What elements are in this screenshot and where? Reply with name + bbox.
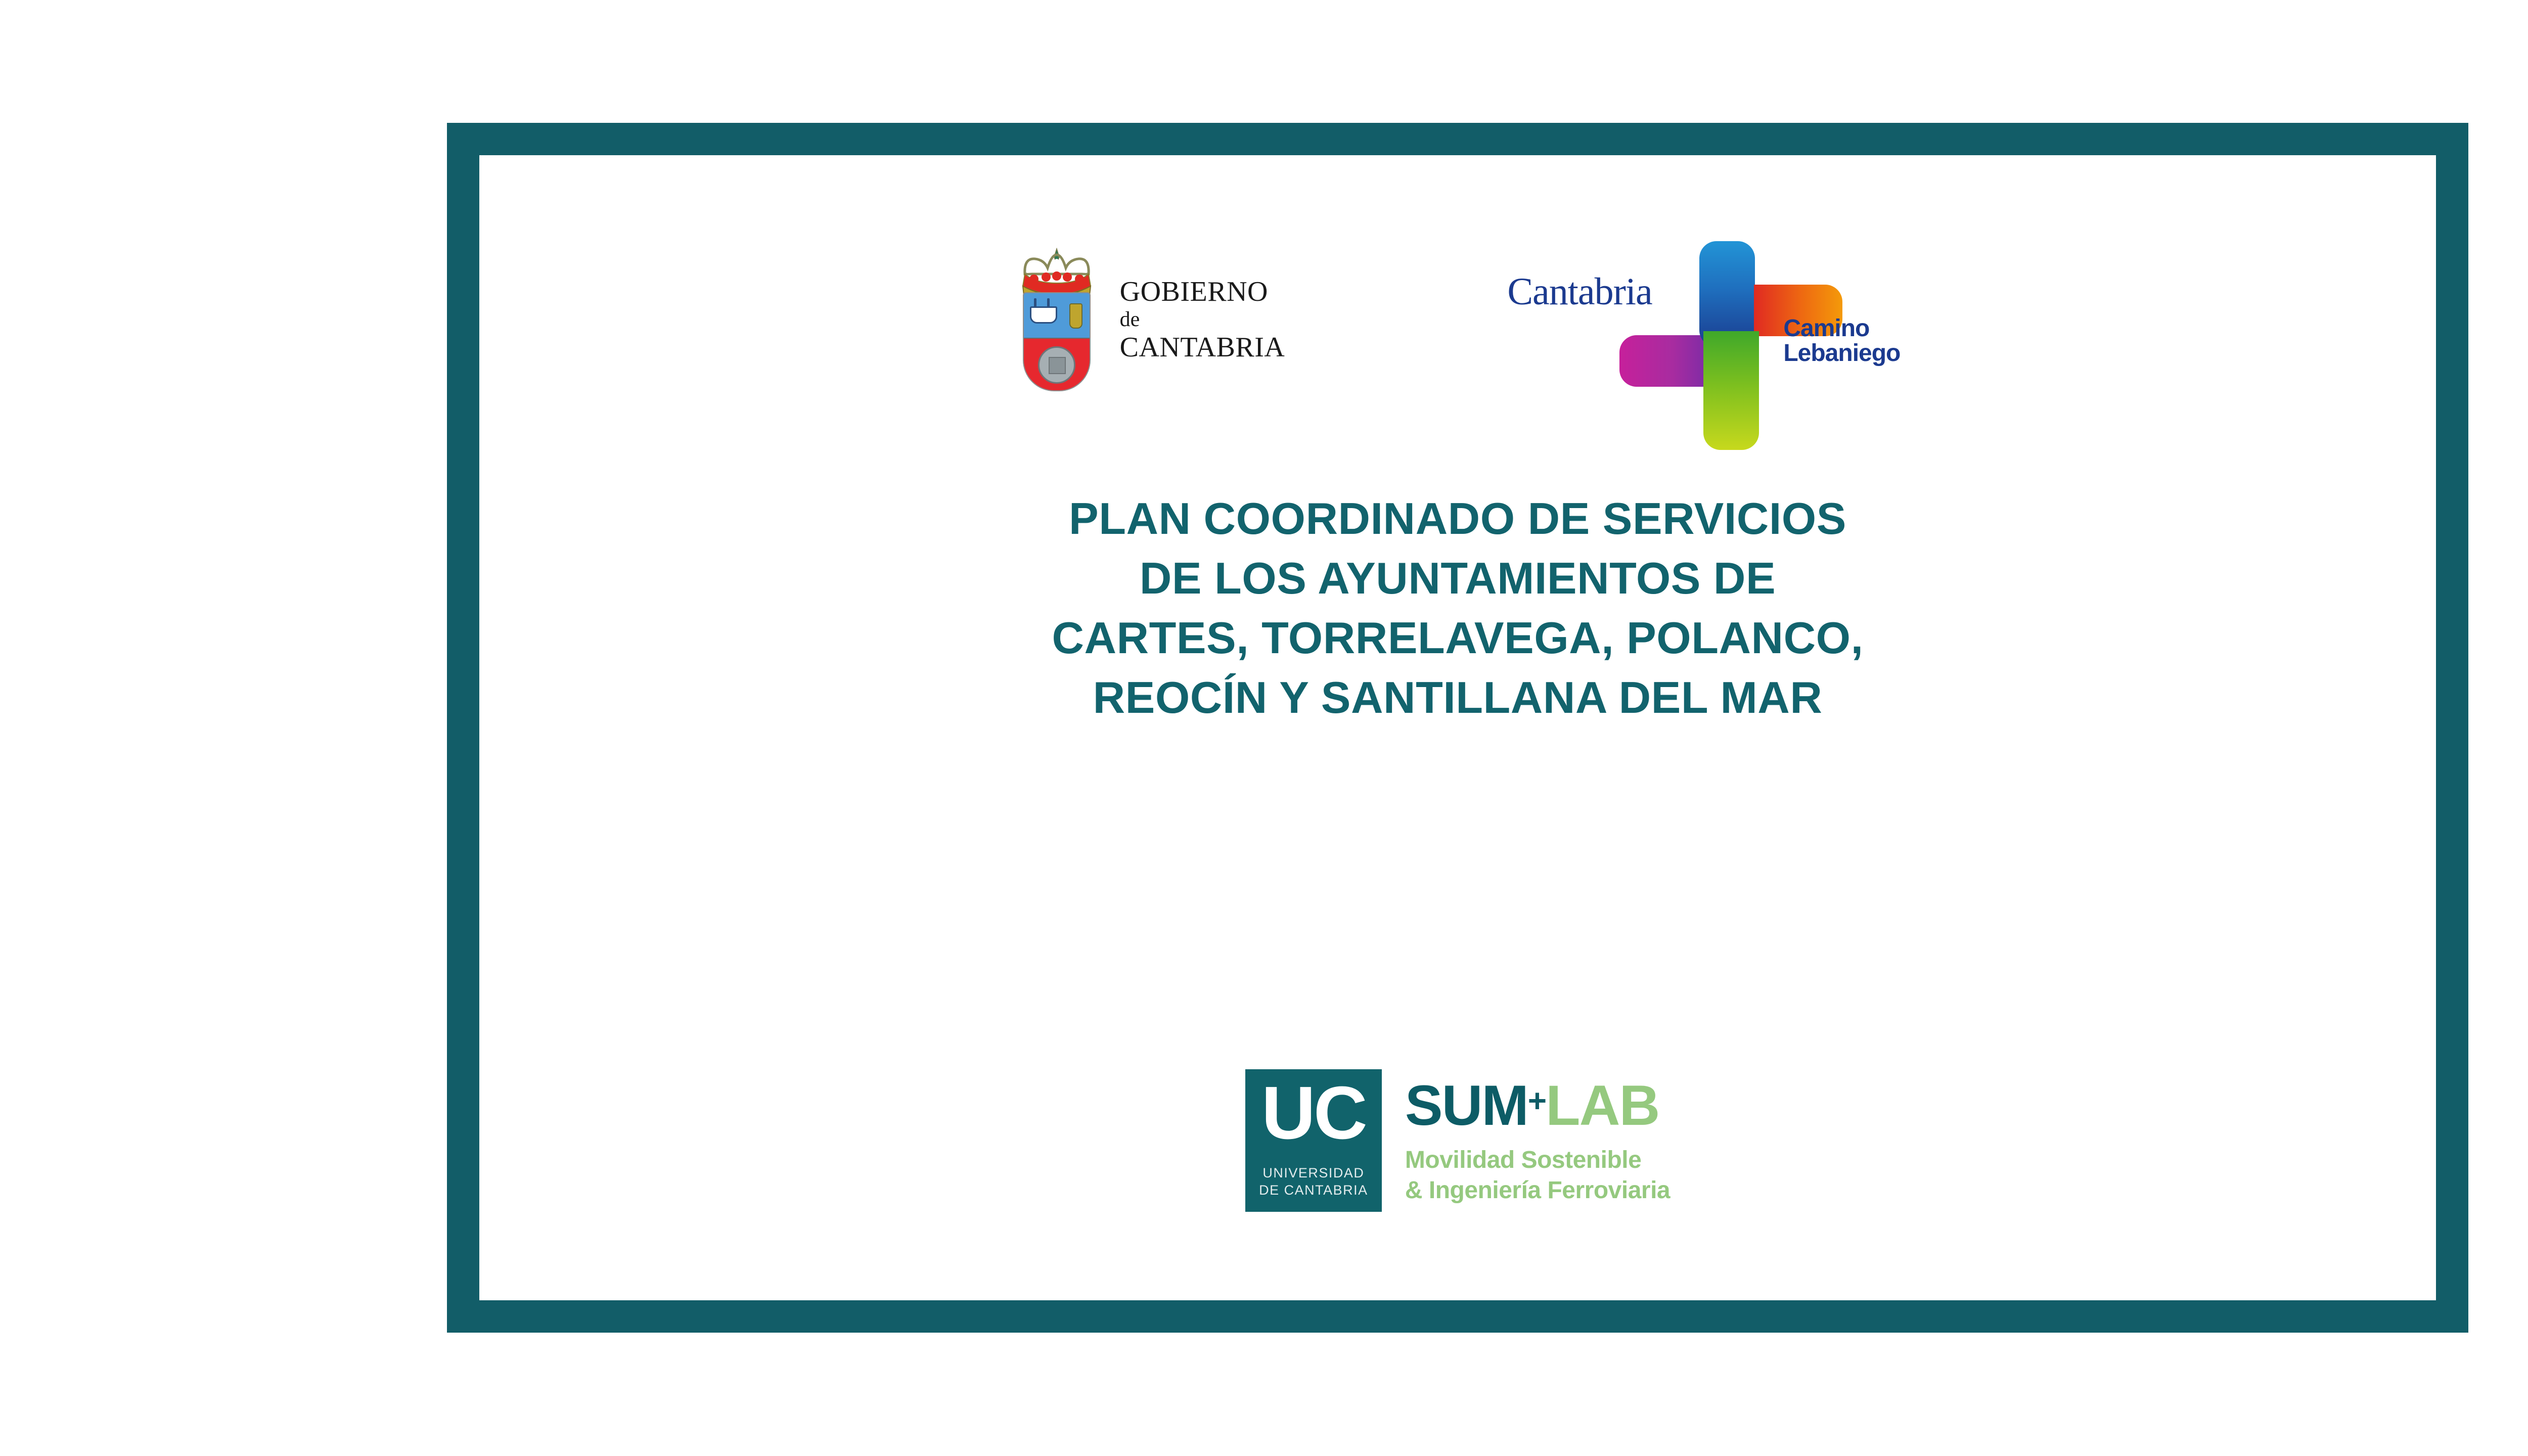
shield-body (1023, 292, 1091, 391)
page-title: PLAN COORDINADO DE SERVICIOS DE LOS AYUN… (479, 489, 2436, 727)
gobierno-line-1: GOBIERNO (1120, 278, 1285, 306)
title-line-2: DE LOS AYUNTAMIENTOS DE (479, 549, 2436, 608)
gobierno-line-3: CANTABRIA (1120, 333, 1285, 361)
cantabria-coat-of-arms-icon (1009, 248, 1105, 392)
sumlab-wordmark: SUM+LAB (1405, 1077, 1670, 1134)
sumlab-tagline-line-1: Movilidad Sostenible (1405, 1145, 1670, 1175)
header-logo-row: GOBIERNO de CANTABRIA Cantabria Camino L… (479, 223, 2436, 416)
camino-lebaniego-wordmark: Camino Lebaniego (1783, 316, 1900, 366)
shield-upper-azure (1024, 293, 1090, 339)
sumlab-logo: SUM+LAB Movilidad Sostenible & Ingenierí… (1405, 1075, 1670, 1205)
sumlab-lab: LAB (1546, 1074, 1659, 1137)
gobierno-wordmark: GOBIERNO de CANTABRIA (1120, 278, 1285, 361)
uc-subtitle: UNIVERSIDAD DE CANTABRIA (1245, 1165, 1382, 1199)
stele-disc-icon (1038, 346, 1075, 384)
tower-icon (1069, 303, 1082, 329)
cross-arm-left-icon (1619, 335, 1708, 387)
gobierno-de-cantabria-logo: GOBIERNO de CANTABRIA (1009, 248, 1285, 392)
cantabria-wordmark: Cantabria (1507, 272, 1652, 311)
sumlab-sum: SUM (1405, 1074, 1528, 1137)
title-line-3: CARTES, TORRELAVEGA, POLANCO, (479, 608, 2436, 668)
cantabria-camino-lebaniego-logo: Cantabria Camino Lebaniego (1502, 236, 1907, 403)
gobierno-line-2: de (1120, 309, 1285, 330)
title-line-1: PLAN COORDINADO DE SERVICIOS (479, 489, 2436, 549)
slide-canvas: GOBIERNO de CANTABRIA Cantabria Camino L… (0, 0, 2528, 1456)
slide-content-panel: GOBIERNO de CANTABRIA Cantabria Camino L… (479, 155, 2436, 1300)
camino-line: Camino (1783, 316, 1900, 341)
title-slide-frame: GOBIERNO de CANTABRIA Cantabria Camino L… (447, 123, 2468, 1333)
title-line-4: REOCÍN Y SANTILLANA DEL MAR (479, 668, 2436, 727)
sumlab-plus-icon: + (1528, 1082, 1546, 1119)
lebaniego-line: Lebaniego (1783, 341, 1900, 366)
uc-subtitle-line-2: DE CANTABRIA (1245, 1182, 1382, 1199)
sumlab-tagline: Movilidad Sostenible & Ingeniería Ferrov… (1405, 1145, 1670, 1205)
uc-initials: UC (1245, 1072, 1382, 1155)
sumlab-tagline-line-2: & Ingeniería Ferroviaria (1405, 1175, 1670, 1206)
uc-subtitle-line-1: UNIVERSIDAD (1245, 1165, 1382, 1181)
ship-hull (1030, 306, 1057, 324)
footer-logo-row: UC UNIVERSIDAD DE CANTABRIA SUM+LAB Movi… (479, 1069, 2436, 1212)
universidad-de-cantabria-logo: UC UNIVERSIDAD DE CANTABRIA (1245, 1069, 1382, 1212)
cross-arm-bottom-icon (1703, 331, 1759, 450)
